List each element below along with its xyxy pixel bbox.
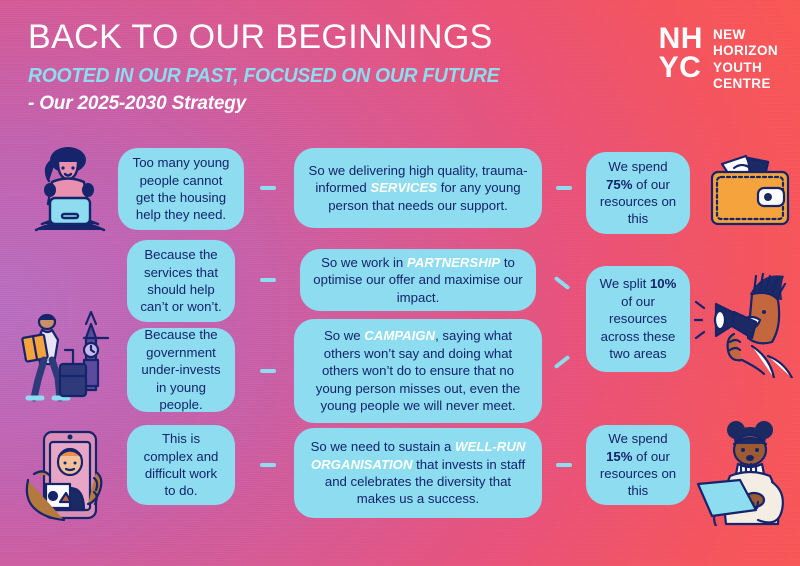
response-box-1: So we delivering high quality, trauma-in… xyxy=(294,148,542,228)
connector-dash-row1-right xyxy=(556,186,572,190)
connector-dash-row4-right xyxy=(556,463,572,467)
resource-value-1: 75% xyxy=(606,177,632,192)
response-pre-2: So we work in xyxy=(321,255,407,270)
poster-canvas: BACK TO OUR BEGINNINGS ROOTED IN OUR PAS… xyxy=(0,0,800,566)
response-emphasis-2: PARTNERSHIP xyxy=(407,255,500,270)
page-strapline: - Our 2025-2030 Strategy xyxy=(28,93,514,115)
problem-text-3: Because the government under-invests in … xyxy=(139,326,223,413)
problem-box-4: This is complex and difficult work to do… xyxy=(127,425,235,505)
connector-dash-row3-right xyxy=(554,355,571,369)
nhyc-logo: NH YC NEW HORIZON YOUTH CENTRE xyxy=(659,24,778,93)
problem-text-4: This is complex and difficult work to do… xyxy=(139,430,223,500)
poster-header: BACK TO OUR BEGINNINGS ROOTED IN OUR PAS… xyxy=(28,20,514,115)
connector-dash-row3-left xyxy=(260,369,276,373)
logo-word-1: NEW xyxy=(713,27,778,43)
logo-monogram: NH YC xyxy=(659,24,703,83)
problem-box-2: Because the services that should help ca… xyxy=(127,240,235,322)
resource-post-2: of our resources across these two areas xyxy=(601,294,676,361)
desk-person-illustration xyxy=(696,418,800,531)
connector-dash-row2-left xyxy=(260,278,276,282)
problem-box-3: Because the government under-invests in … xyxy=(127,328,235,412)
resource-value-3: 15% xyxy=(606,449,632,464)
response-box-3: So we CAMPAIGN, saying what others won’t… xyxy=(294,319,542,423)
laptop-person-illustration xyxy=(22,138,118,243)
wallet-illustration xyxy=(704,142,794,243)
response-emphasis-1: SERVICES xyxy=(370,180,437,195)
connector-dash-row1-left xyxy=(260,186,276,190)
page-title: BACK TO OUR BEGINNINGS xyxy=(28,20,514,56)
traveller-illustration xyxy=(14,298,118,409)
problem-text-2: Because the services that should help ca… xyxy=(139,246,223,316)
response-box-2: So we work in PARTNERSHIP to optimise ou… xyxy=(300,249,536,311)
resource-text-2: We split 10% of our resources across the… xyxy=(598,275,678,362)
page-subtitle: ROOTED IN OUR PAST, FOCUSED ON OUR FUTUR… xyxy=(28,65,499,88)
resource-box-1: We spend 75% of our resources on this xyxy=(586,152,690,234)
resource-pre-3: We spend xyxy=(608,431,667,446)
phone-hand-illustration xyxy=(10,418,122,535)
resource-box-3: We spend 15% of our resources on this xyxy=(586,425,690,505)
response-pre-3: So we xyxy=(324,328,364,343)
connector-dash-row2-right xyxy=(554,276,571,290)
response-emphasis-3: CAMPAIGN xyxy=(364,328,435,343)
problem-box-1: Too many young people cannot get the hou… xyxy=(118,148,244,230)
response-text-3: So we CAMPAIGN, saying what others won’t… xyxy=(306,327,530,414)
resource-text-3: We spend 15% of our resources on this xyxy=(598,430,678,500)
resource-text-1: We spend 75% of our resources on this xyxy=(598,158,678,228)
resource-pre-1: We spend xyxy=(608,159,667,174)
response-text-4: So we need to sustain a WELL-RUN ORGANIS… xyxy=(306,438,530,508)
response-pre-4: So we need to sustain a xyxy=(311,439,455,454)
resource-pre-2: We split xyxy=(600,276,650,291)
response-text-1: So we delivering high quality, trauma-in… xyxy=(306,162,530,214)
problem-text-1: Too many young people cannot get the hou… xyxy=(130,154,232,224)
resource-box-2: We split 10% of our resources across the… xyxy=(586,266,690,372)
logo-word-2: HORIZON xyxy=(713,43,778,59)
response-box-4: So we need to sustain a WELL-RUN ORGANIS… xyxy=(294,428,542,518)
logo-monogram-line-2: YC xyxy=(659,53,703,82)
logo-word-4: CENTRE xyxy=(713,76,778,92)
response-text-2: So we work in PARTNERSHIP to optimise ou… xyxy=(312,254,524,306)
megaphone-illustration xyxy=(694,268,800,383)
logo-wordmark: NEW HORIZON YOUTH CENTRE xyxy=(713,24,778,93)
logo-word-3: YOUTH xyxy=(713,60,778,76)
connector-dash-row4-left xyxy=(260,463,276,467)
logo-monogram-line-1: NH xyxy=(659,24,703,53)
resource-value-2: 10% xyxy=(650,276,676,291)
